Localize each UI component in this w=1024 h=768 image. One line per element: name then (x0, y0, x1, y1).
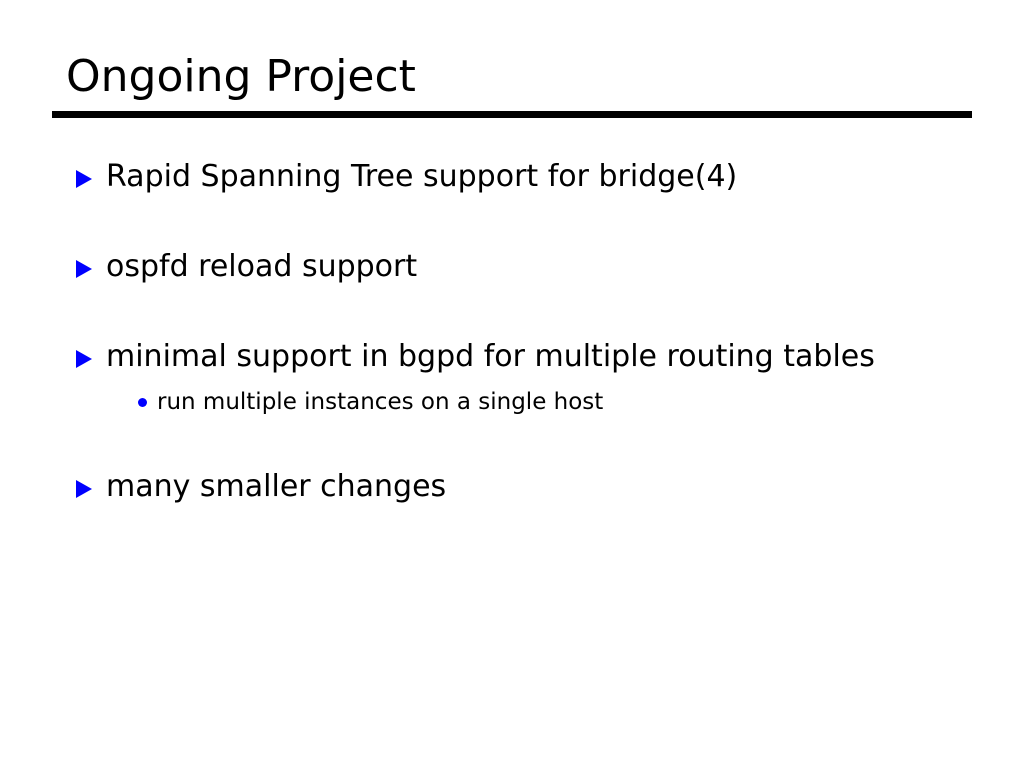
sub-list-item-label: run multiple instances on a single host (157, 389, 603, 415)
list-item-label: Rapid Spanning Tree support for bridge(4… (106, 159, 737, 194)
list-item: ospfd reload support (76, 242, 876, 291)
triangle-right-icon (76, 170, 92, 188)
triangle-right-icon (76, 260, 92, 278)
page-title: Ongoing Project (52, 48, 972, 106)
list-item-label: many smaller changes (106, 469, 446, 504)
sub-list-item: run multiple instances on a single host (106, 383, 876, 421)
list-item: many smaller changes (76, 462, 876, 511)
triangle-right-icon (76, 350, 92, 368)
triangle-right-icon (76, 480, 92, 498)
list-item: Rapid Spanning Tree support for bridge(4… (76, 152, 876, 201)
list-item-label: ospfd reload support (106, 249, 417, 284)
list-item: minimal support in bgpd for multiple rou… (76, 332, 876, 421)
list-item-label: minimal support in bgpd for multiple rou… (106, 339, 875, 374)
dot-icon (138, 398, 147, 407)
slide-title-block: Ongoing Project (52, 48, 972, 118)
title-underline-rule (52, 111, 972, 118)
sub-list: run multiple instances on a single host (106, 383, 876, 421)
slide-body-outline: Rapid Spanning Tree support for bridge(4… (76, 152, 956, 511)
slide-canvas: Ongoing Project Rapid Spanning Tree supp… (0, 0, 1024, 768)
